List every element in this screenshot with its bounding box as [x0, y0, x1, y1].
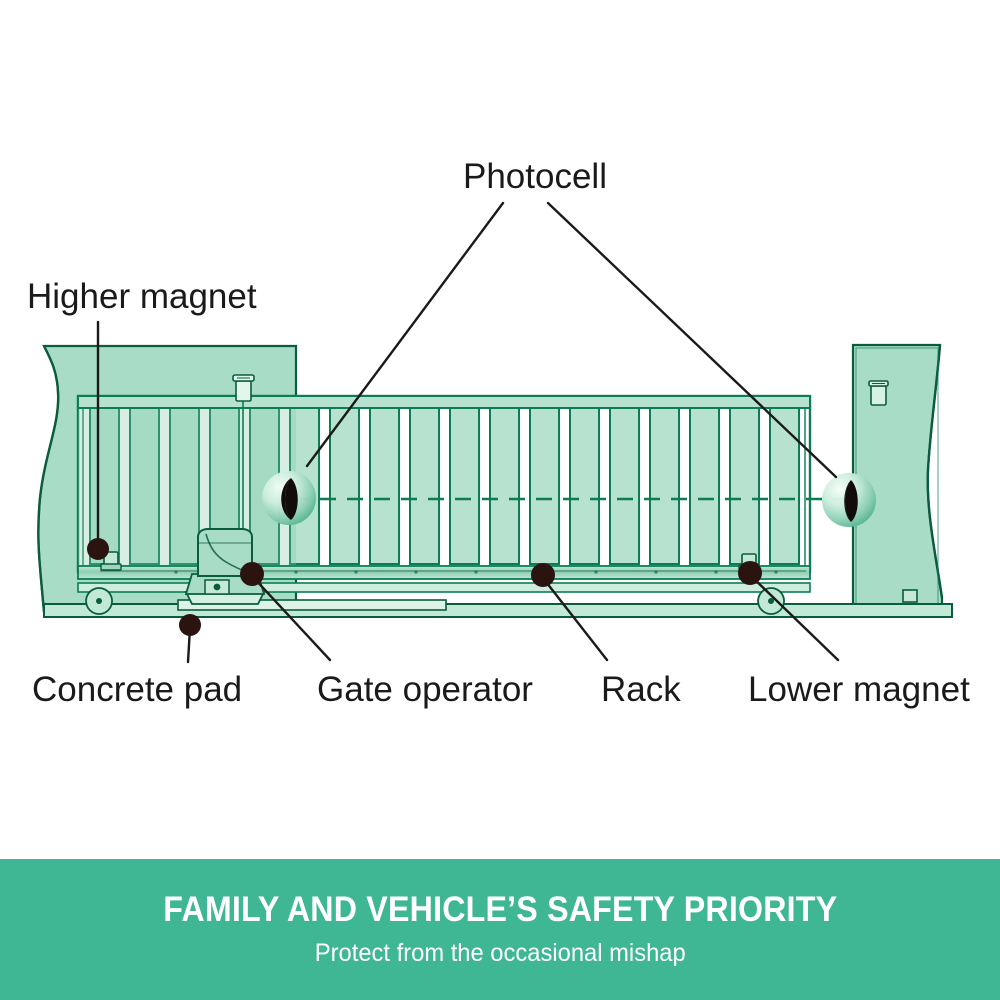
gate-diagram: Photocell Higher magnet Concrete pad Gat… [0, 0, 1000, 859]
callout-label-photocell: Photocell [463, 157, 607, 196]
guide-roller-right [758, 588, 784, 614]
rack-dot [531, 563, 555, 587]
page-root: Photocell Higher magnet Concrete pad Gat… [0, 0, 1000, 1000]
post-receiver-icon [869, 381, 888, 405]
concrete-pad-dot [179, 614, 201, 636]
promo-headline: FAMILY AND VEHICLE’S SAFETY PRIORITY [163, 892, 837, 929]
photocell-right [822, 473, 876, 527]
gate-leaf [78, 375, 810, 572]
photocell-left [262, 471, 316, 525]
lower-magnet-dot [738, 561, 762, 585]
callout-label-rack: Rack [601, 670, 681, 709]
gate-operator-dot [240, 562, 264, 586]
higher-magnet-dot [87, 538, 109, 560]
promo-subline: Protect from the occasional mishap [315, 940, 686, 968]
diagram-canvas: Photocell Higher magnet Concrete pad Gat… [0, 0, 1000, 859]
callout-label-concrete-pad: Concrete pad [32, 670, 242, 709]
concrete-pad [44, 600, 952, 617]
callout-label-gate-operator: Gate operator [317, 670, 533, 709]
guide-roller-left [86, 588, 112, 614]
promo-banner: FAMILY AND VEHICLE’S SAFETY PRIORITY Pro… [0, 859, 1000, 1000]
callout-label-higher-magnet: Higher magnet [27, 277, 257, 316]
right-post [853, 345, 942, 612]
callout-label-lower-magnet: Lower magnet [748, 670, 970, 709]
